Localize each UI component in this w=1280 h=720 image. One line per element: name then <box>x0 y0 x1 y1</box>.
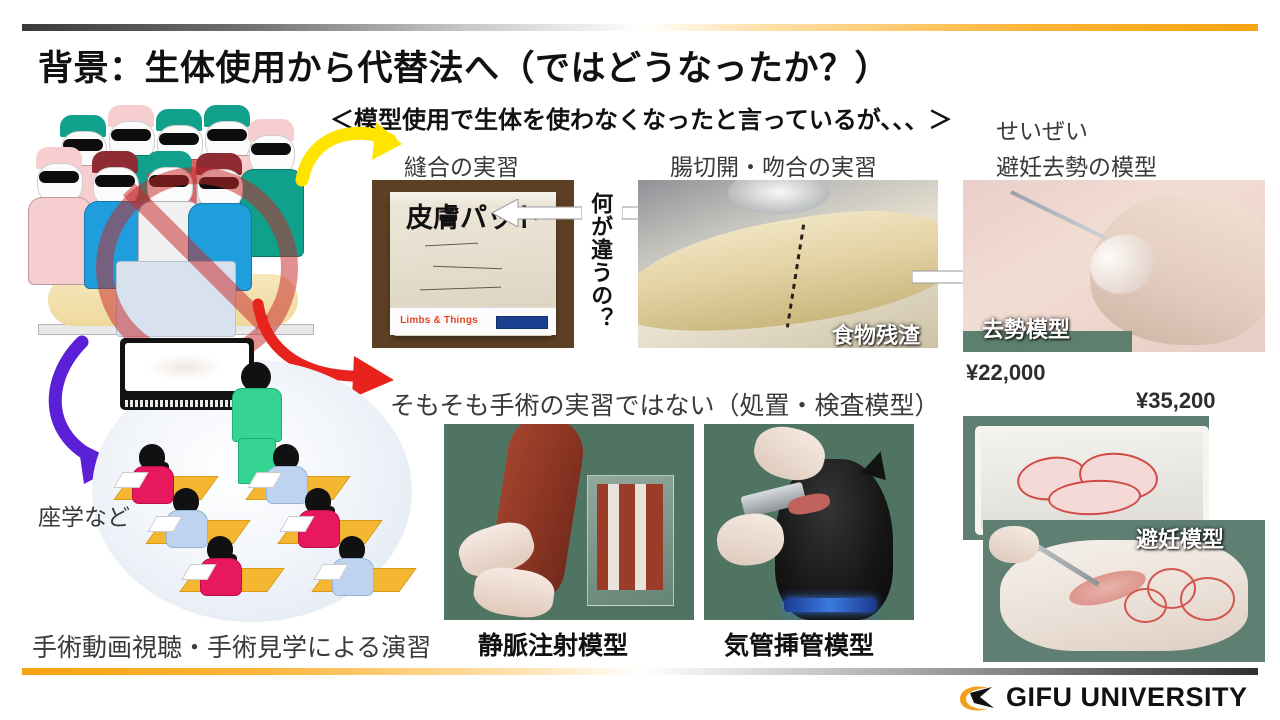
caption-spay-neuter-model: 避妊去勢の模型 <box>996 148 1157 182</box>
label-whats-different: 何が違うの？ <box>588 192 611 330</box>
gifu-swoosh-icon <box>958 684 996 712</box>
skin-pad-brand: Limbs & Things <box>400 315 478 326</box>
top-rule-orange <box>642 24 1258 31</box>
caption-not-surgery-practice: そもそも手術の実習ではない（処置・検査模型） <box>390 386 940 422</box>
caption-video-observation: 手術動画視聴・手術見学による演習 <box>32 628 431 664</box>
top-rule-dark <box>22 24 642 31</box>
overlay-neuter-model: 去勢模型 <box>982 312 1070 344</box>
led-base <box>784 598 876 612</box>
price-neuter: ¥22,000 <box>966 360 1046 386</box>
caption-intubation-model: 気管挿管模型 <box>724 626 874 662</box>
price-spay: ¥35,200 <box>1136 388 1216 414</box>
gloved-hand <box>989 526 1040 563</box>
university-name: GIFU UNIVERSITY <box>1006 682 1248 713</box>
photo-intubation-model <box>704 424 914 620</box>
skin-pad-label-strip: Limbs & Things <box>390 307 556 335</box>
spay-tray <box>975 426 1208 535</box>
bottom-rule-orange <box>22 668 642 675</box>
caption-seizei: せいぜい <box>996 112 1088 146</box>
slide-canvas: 背景：生体使用から代替法へ（ではどうなったか？） ＜模型使用で生体を使わなくなっ… <box>0 0 1280 720</box>
spare-skin-pouch <box>587 475 674 606</box>
yellow-curved-arrow <box>298 118 418 188</box>
caption-suture-practice: 縫合の実習 <box>404 148 519 182</box>
caption-lecture-etc: 座学など <box>38 498 130 532</box>
overlay-food-residue: 食物残渣 <box>832 318 920 350</box>
white-left-arrow <box>490 199 582 227</box>
overlay-spay-model: 避妊模型 <box>1136 522 1224 554</box>
student-figure <box>330 536 374 592</box>
student-figure <box>198 536 242 592</box>
scalpel <box>1010 191 1120 248</box>
caption-enterotomy-practice: 腸切開・吻合の実習 <box>670 148 877 182</box>
slide-subheading: ＜模型使用で生体を使わなくなったと言っているが、、、＞ <box>330 100 952 135</box>
classroom-illustration <box>78 340 428 630</box>
skin-pad-sticker <box>496 316 548 329</box>
photo-iv-injection-model <box>444 424 694 620</box>
caption-iv-injection-model: 静脈注射模型 <box>478 626 628 662</box>
bottom-rule-dark <box>642 668 1258 675</box>
slide-title: 背景：生体使用から代替法へ（ではどうなったか？） <box>38 40 890 91</box>
university-logo: GIFU UNIVERSITY <box>958 682 1248 713</box>
surgical-lamp <box>728 180 830 214</box>
